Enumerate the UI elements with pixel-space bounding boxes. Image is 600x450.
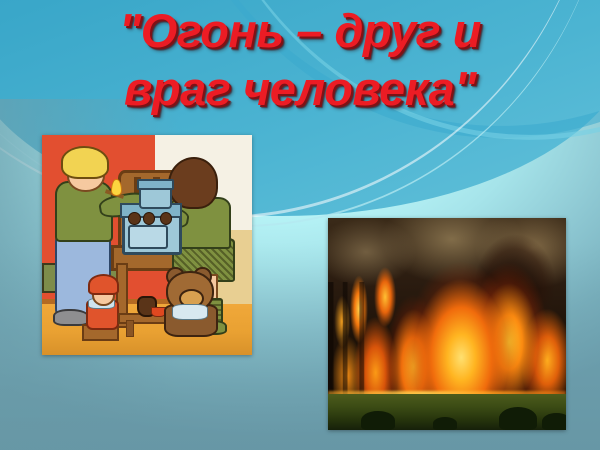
illustration-boy-hair bbox=[61, 146, 109, 179]
wildfire-photo bbox=[328, 218, 566, 430]
slide-title: "Огонь – друг и враг человека" bbox=[0, 2, 600, 118]
illustration-toy-table-leg bbox=[126, 320, 134, 337]
illustration-stove-burner bbox=[128, 212, 141, 225]
illustration-bear-bib bbox=[172, 304, 208, 319]
wildfire-bush bbox=[433, 417, 457, 430]
presentation-slide: "Огонь – друг и враг человека" bbox=[0, 0, 600, 450]
illustration-doll-hair bbox=[88, 274, 119, 296]
illustration-stove-burner bbox=[160, 212, 173, 225]
wildfire-bush bbox=[542, 413, 566, 430]
illustration-pot-lid bbox=[137, 179, 175, 190]
illustration-stove-door bbox=[128, 225, 168, 249]
wildfire-bush bbox=[361, 411, 394, 430]
wildfire-burning-trees bbox=[328, 282, 566, 401]
wildfire-bush bbox=[499, 407, 537, 430]
illustration-match-flame-icon bbox=[111, 179, 121, 196]
children-toy-stove-illustration bbox=[42, 135, 252, 355]
illustration-girl-hair bbox=[168, 157, 218, 209]
